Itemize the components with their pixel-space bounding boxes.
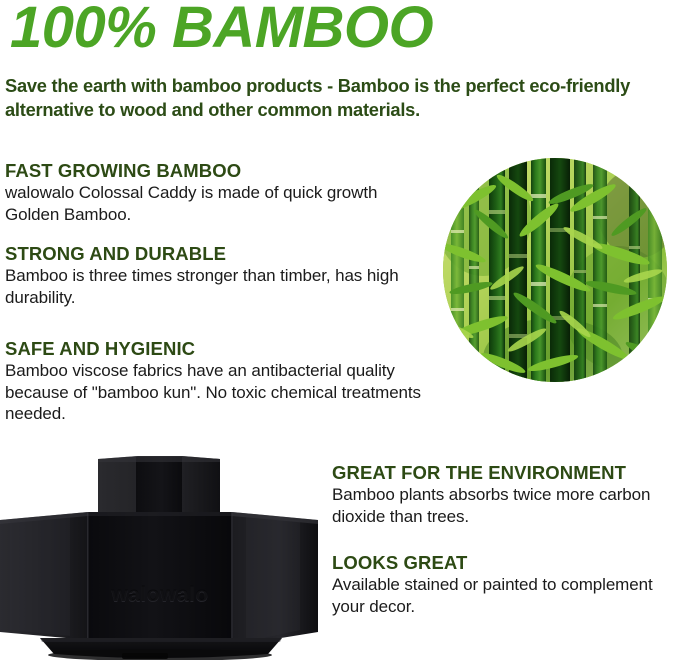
- bamboo-infographic: 100% BAMBOO Save the earth with bamboo p…: [0, 0, 679, 660]
- page-subtitle: Save the earth with bamboo products - Ba…: [5, 74, 677, 122]
- page-title: 100% BAMBOO: [10, 0, 433, 59]
- feature-heading: SAFE AND HYGIENIC: [5, 338, 455, 359]
- feature-looks-great: LOOKS GREAT Available stained or painted…: [332, 552, 677, 617]
- feature-body: Bamboo is three times stronger than timb…: [5, 265, 435, 308]
- feature-heading: GREAT FOR THE ENVIRONMENT: [332, 462, 677, 483]
- feature-strong-and-durable: STRONG AND DURABLE Bamboo is three times…: [5, 243, 435, 308]
- feature-heading: LOOKS GREAT: [332, 552, 677, 573]
- feature-body: Available stained or painted to compleme…: [332, 574, 677, 617]
- feature-safe-and-hygienic: SAFE AND HYGIENIC Bamboo viscose fabrics…: [5, 338, 455, 425]
- svg-text:walowalo: walowalo: [110, 583, 208, 606]
- feature-fast-growing-bamboo: FAST GROWING BAMBOO walowalo Colossal Ca…: [5, 160, 435, 225]
- feature-body: Bamboo plants absorbs twice more carbon …: [332, 484, 677, 527]
- feature-body: Bamboo viscose fabrics have an antibacte…: [5, 360, 455, 425]
- feature-body: walowalo Colossal Caddy is made of quick…: [5, 182, 435, 225]
- feature-heading: FAST GROWING BAMBOO: [5, 160, 435, 181]
- feature-great-for-the-environment: GREAT FOR THE ENVIRONMENT Bamboo plants …: [332, 462, 677, 527]
- product-caddy-photo: walowalo walowalo: [0, 450, 322, 660]
- feature-heading: STRONG AND DURABLE: [5, 243, 435, 264]
- bamboo-grove-photo: [443, 158, 667, 382]
